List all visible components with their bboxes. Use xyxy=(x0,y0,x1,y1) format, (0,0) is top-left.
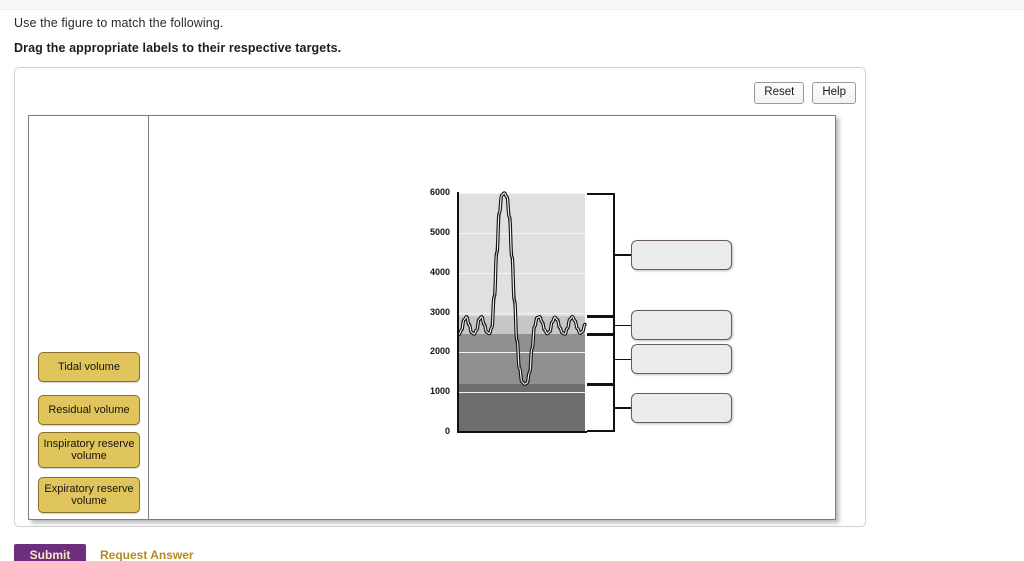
page-root: Use the figure to match the following. D… xyxy=(0,0,1024,561)
draggable-label-text: Residual volume xyxy=(48,404,129,417)
label-bank: Tidal volumeResidual volumeInspiratory r… xyxy=(29,116,148,519)
draggable-label-inspiratory-reserve-volume[interactable]: Inspiratory reserve volume xyxy=(38,432,140,468)
spirogram-figure: Milliliters (ml) 60005000400030002000100… xyxy=(148,116,836,519)
draggable-label-expiratory-reserve-volume[interactable]: Expiratory reserve volume xyxy=(38,477,140,513)
drop-target-4[interactable] xyxy=(631,393,732,423)
browser-top-strip xyxy=(0,0,1024,10)
drop-target-1[interactable] xyxy=(631,240,732,270)
activity-toolbar: Reset Help xyxy=(754,82,856,104)
drag-drop-stage: Tidal volumeResidual volumeInspiratory r… xyxy=(28,115,836,520)
draggable-label-text: Expiratory reserve volume xyxy=(42,483,136,508)
drop-target-2[interactable] xyxy=(631,310,732,340)
question-prompt: Use the figure to match the following. xyxy=(14,16,223,30)
draggable-label-residual-volume[interactable]: Residual volume xyxy=(38,395,140,425)
activity-panel: Reset Help Tidal volumeResidual volumeIn… xyxy=(14,67,866,527)
draggable-label-text: Tidal volume xyxy=(58,361,120,374)
drop-target-3[interactable] xyxy=(631,344,732,374)
request-answer-link[interactable]: Request Answer xyxy=(100,548,194,561)
drop-target-group xyxy=(148,116,836,519)
draggable-label-tidal-volume[interactable]: Tidal volume xyxy=(38,352,140,382)
question-instruction: Drag the appropriate labels to their res… xyxy=(14,41,341,55)
help-button[interactable]: Help xyxy=(812,82,856,104)
reset-button[interactable]: Reset xyxy=(754,82,804,104)
draggable-label-text: Inspiratory reserve volume xyxy=(42,438,136,463)
submit-button[interactable]: Submit xyxy=(14,544,86,561)
